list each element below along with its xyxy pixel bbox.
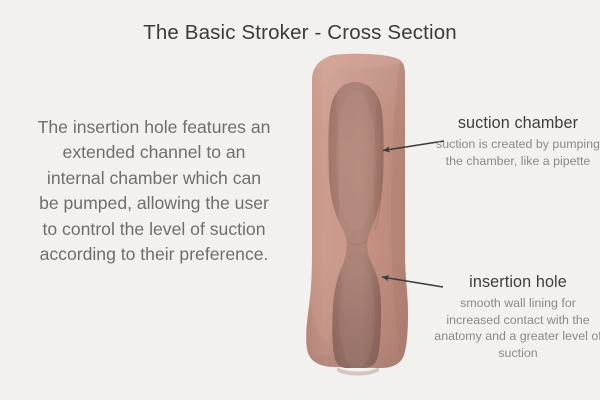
illustration-page: The Basic Stroker - Cross Section The in…	[0, 0, 600, 400]
callout-insertion-hole: insertion hole smooth wall lining for in…	[434, 272, 600, 361]
callout-suction-chamber: suction chamber suction is created by pu…	[434, 113, 600, 169]
stroker-cross-section-illustration	[285, 40, 425, 385]
callout-suction-chamber-title: suction chamber	[434, 113, 600, 133]
callout-insertion-hole-title: insertion hole	[434, 272, 600, 292]
description-paragraph: The insertion hole features an extended …	[36, 115, 272, 268]
stroker-cross-section-graphic	[285, 40, 425, 385]
stroker-bottom-opening	[337, 367, 379, 376]
callout-suction-chamber-body: suction is created by pumping the chambe…	[434, 136, 600, 169]
callout-insertion-hole-body: smooth wall lining for increased contact…	[434, 295, 600, 361]
